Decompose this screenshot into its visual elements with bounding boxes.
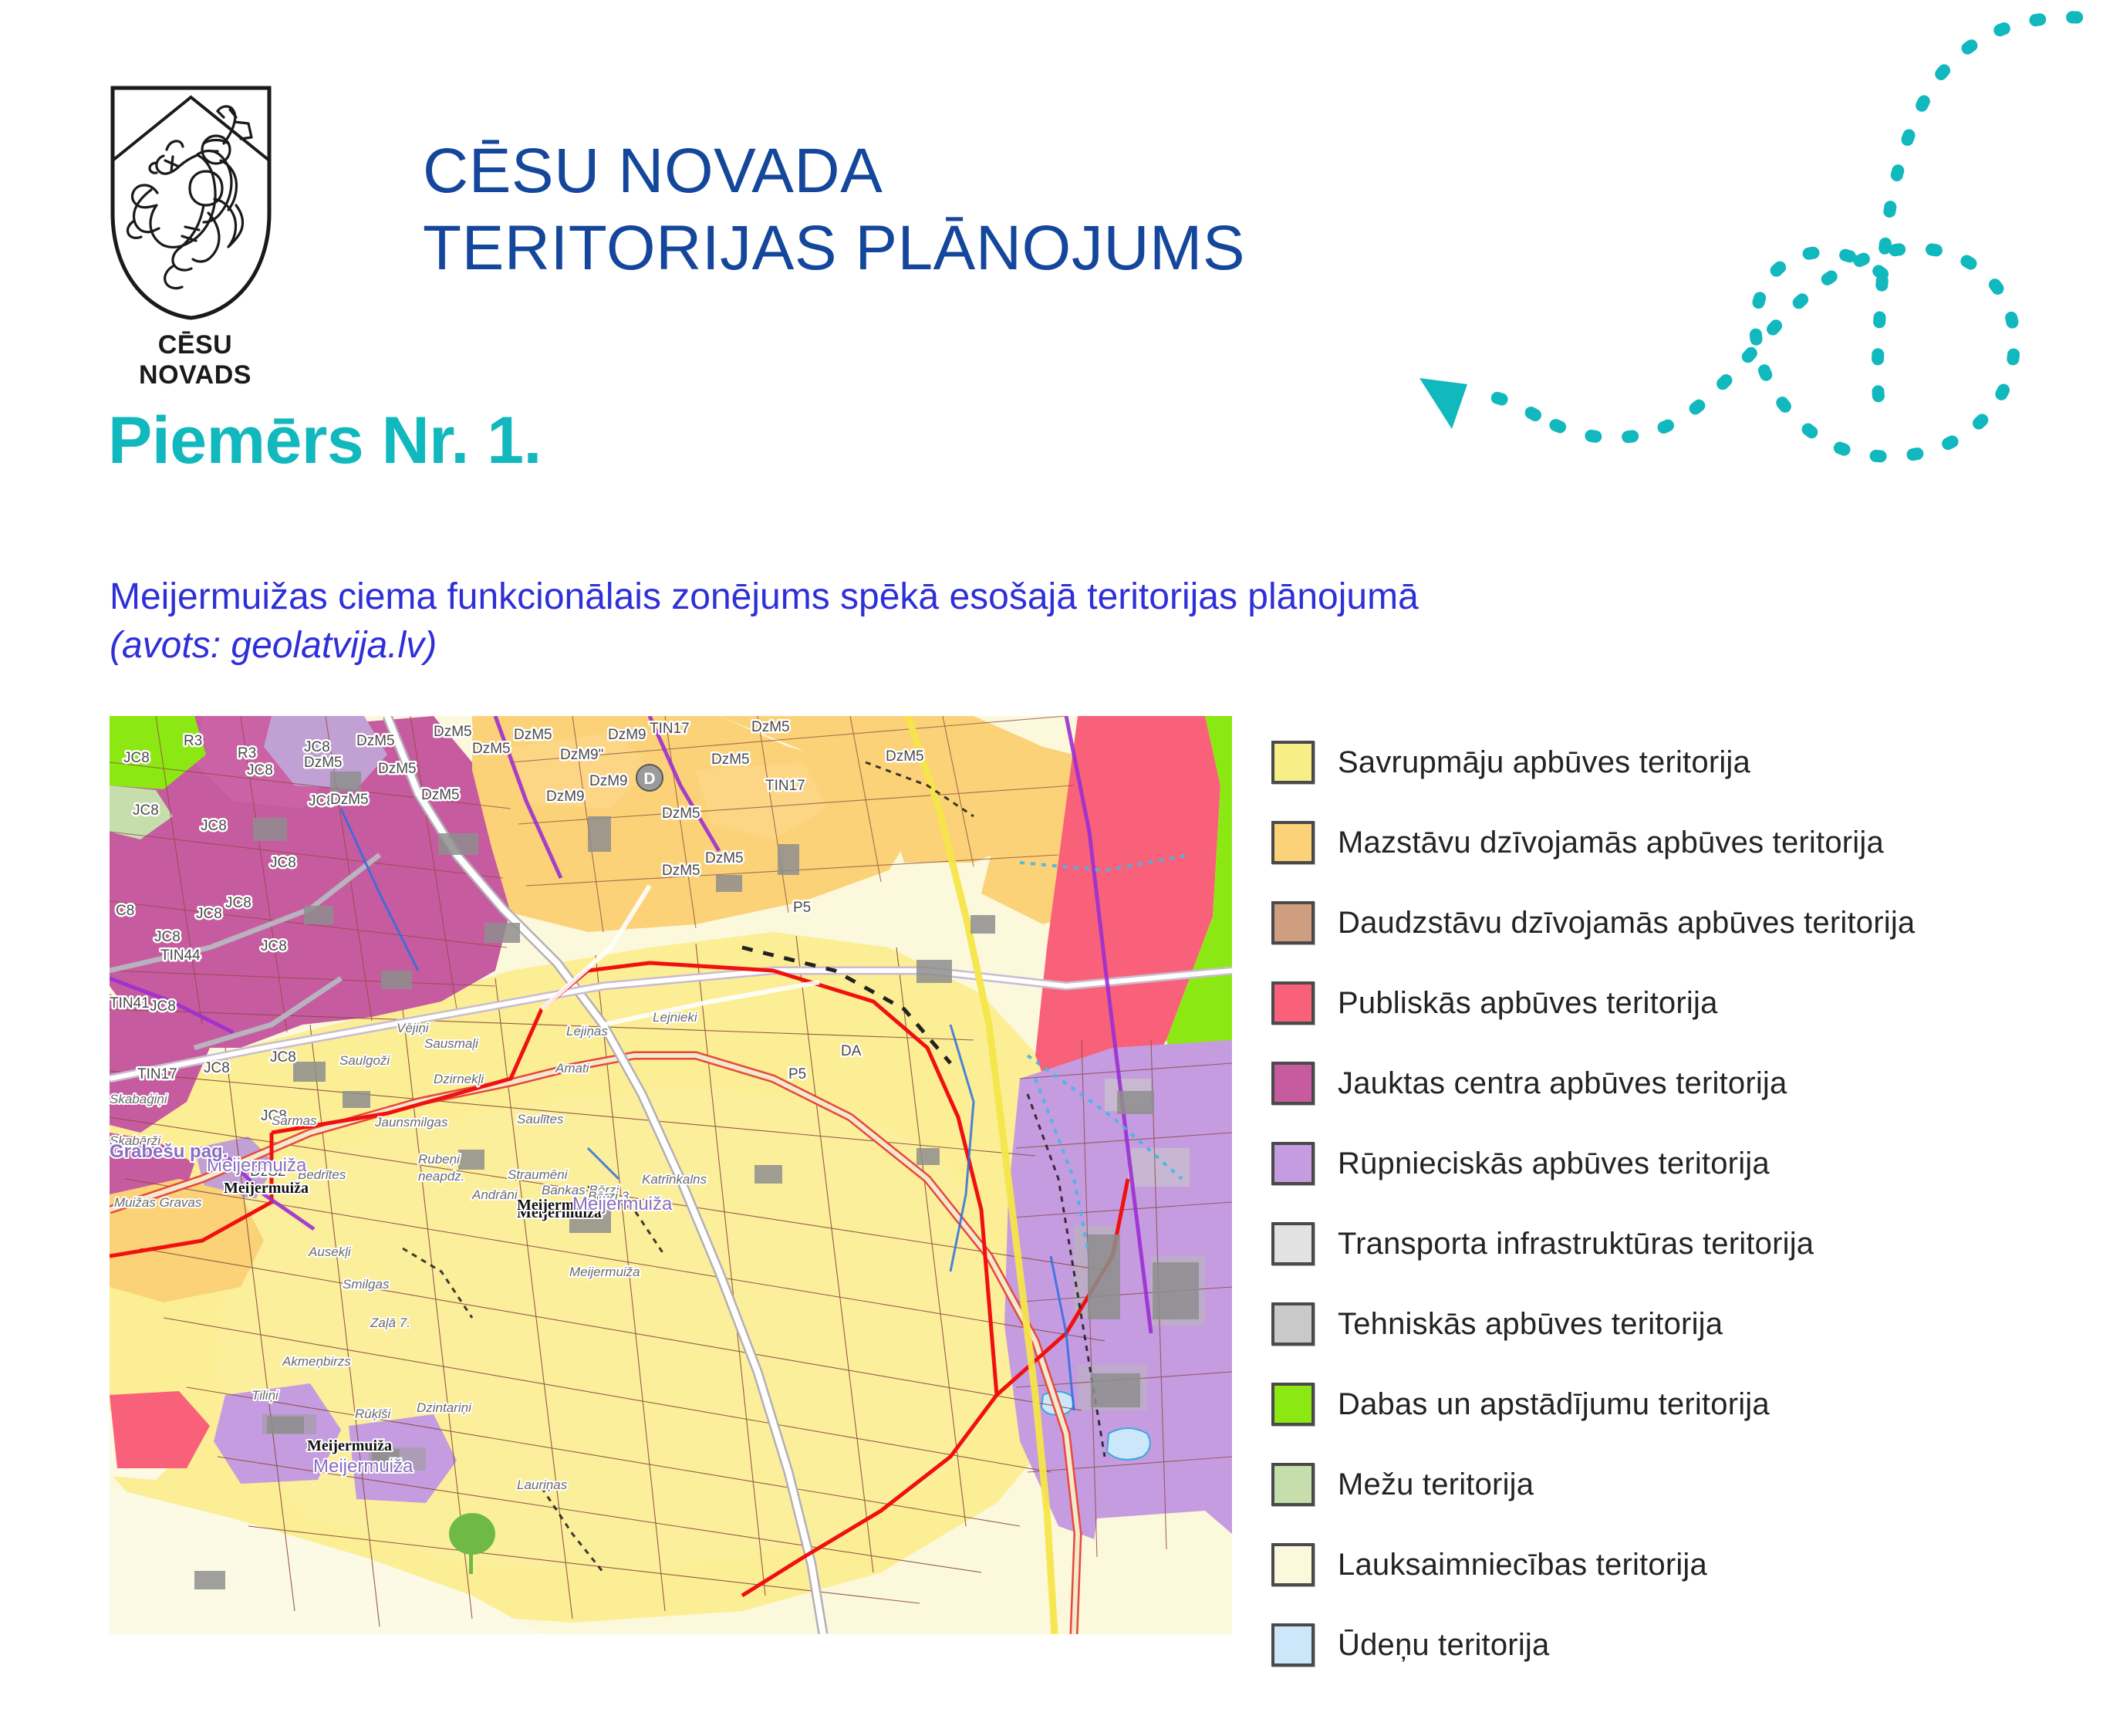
svg-text:C8: C8 <box>116 903 134 919</box>
svg-text:Sarmas: Sarmas <box>272 1113 317 1128</box>
svg-text:Ausekļi: Ausekļi <box>308 1245 352 1259</box>
svg-text:DzM5: DzM5 <box>514 727 552 743</box>
svg-text:JC8: JC8 <box>204 1060 230 1076</box>
svg-text:JC8: JC8 <box>261 938 287 954</box>
legend-item-label: Savrupmāju apbūves teritorija <box>1338 745 1750 780</box>
svg-text:DA: DA <box>841 1043 862 1059</box>
dotted-swoosh-arrow-icon <box>1419 17 2103 456</box>
svg-text:R3: R3 <box>184 733 202 749</box>
svg-text:P5: P5 <box>788 1066 806 1082</box>
legend-color-swatch <box>1271 1302 1315 1346</box>
svg-text:DzM9: DzM9 <box>546 789 585 805</box>
brand-label: CĒSU NOVADS <box>99 330 292 390</box>
legend-color-swatch <box>1271 1142 1315 1185</box>
svg-text:P5: P5 <box>793 900 811 916</box>
legend-color-swatch <box>1271 1383 1315 1426</box>
legend-item: Lauksaimniecības teritorija <box>1271 1525 2043 1605</box>
svg-text:DzM5: DzM5 <box>751 719 790 735</box>
svg-text:Lejnieki: Lejnieki <box>653 1010 698 1025</box>
svg-text:TIN41: TIN41 <box>110 995 150 1012</box>
svg-text:DzM5: DzM5 <box>711 751 750 768</box>
svg-text:Akmeņbirzs: Akmeņbirzs <box>282 1354 351 1369</box>
legend-item: Transporta infrastruktūras teritorija <box>1271 1204 2043 1284</box>
svg-text:JC8: JC8 <box>150 998 176 1015</box>
svg-text:DzM5: DzM5 <box>356 733 395 749</box>
svg-text:DzM5: DzM5 <box>662 806 700 822</box>
legend-item: Savrupmāju apbūves teritorija <box>1271 722 2043 802</box>
legend-item: Ūdeņu teritorija <box>1271 1605 2043 1685</box>
svg-text:DzM9": DzM9" <box>560 747 603 763</box>
svg-text:Dzintariņi: Dzintariņi <box>417 1400 472 1415</box>
svg-text:Dzirnekļi: Dzirnekļi <box>434 1072 484 1086</box>
svg-text:R3: R3 <box>238 745 256 762</box>
page-title: CĒSU NOVADA TERITORIJAS PLĀNOJUMS <box>423 133 1245 287</box>
svg-text:TIN17: TIN17 <box>765 778 805 794</box>
svg-text:Meijermuiža: Meijermuiža <box>572 1194 673 1214</box>
svg-text:Vējiņi: Vējiņi <box>397 1021 430 1035</box>
svg-text:JC8: JC8 <box>247 762 273 778</box>
svg-text:DzM5: DzM5 <box>886 748 924 765</box>
svg-text:D: D <box>643 770 655 788</box>
legend-color-swatch <box>1271 1623 1315 1667</box>
legend-color-swatch <box>1271 821 1315 864</box>
legend-item: Rūpnieciskās apbūves teritorija <box>1271 1123 2043 1204</box>
legend-item: Daudzstāvu dzīvojamās apbūves teritorija <box>1271 883 2043 963</box>
svg-text:Muižas Gravas: Muižas Gravas <box>114 1195 202 1210</box>
example-heading: Piemērs Nr. 1. <box>108 403 542 479</box>
svg-text:TIN17: TIN17 <box>650 721 690 737</box>
legend-item-label: Publiskās apbūves teritorija <box>1338 986 1718 1021</box>
svg-text:TIN44: TIN44 <box>160 947 201 964</box>
svg-text:DzM5: DzM5 <box>304 755 343 771</box>
caption-line-1: Meijermuižas ciema funkcionālais zonējum… <box>110 572 1961 621</box>
legend-item-label: Ūdeņu teritorija <box>1338 1628 1549 1663</box>
svg-text:Rūķīši: Rūķīši <box>355 1407 392 1421</box>
svg-text:JC8: JC8 <box>225 895 251 911</box>
legend-color-swatch <box>1271 741 1315 784</box>
svg-text:DzM5: DzM5 <box>472 741 511 757</box>
svg-text:Saulgoži: Saulgoži <box>339 1053 390 1068</box>
legend-item-label: Dabas un apstādījumu teritorija <box>1338 1387 1770 1422</box>
svg-text:Grabešu pag.: Grabešu pag. <box>110 1141 228 1162</box>
svg-text:DzM5: DzM5 <box>434 724 472 740</box>
svg-text:Meijermuiža: Meijermuiža <box>313 1456 414 1477</box>
svg-text:Andrāni: Andrāni <box>471 1187 518 1202</box>
legend-item-label: Rūpnieciskās apbūves teritorija <box>1338 1147 1770 1181</box>
svg-text:Skabaģiņi: Skabaģiņi <box>110 1092 168 1106</box>
svg-text:DzM5: DzM5 <box>330 792 369 808</box>
legend-item-label: Mazstāvu dzīvojamās apbūves teritorija <box>1338 826 1884 860</box>
legend-item: Publiskās apbūves teritorija <box>1271 963 2043 1043</box>
svg-text:Lejiņas: Lejiņas <box>566 1024 608 1039</box>
legend-item-label: Mežu teritorija <box>1338 1467 1534 1502</box>
legend-color-swatch <box>1271 981 1315 1025</box>
legend-item: Mazstāvu dzīvojamās apbūves teritorija <box>1271 802 2043 883</box>
legend-color-swatch <box>1271 1463 1315 1506</box>
svg-text:DzM5: DzM5 <box>705 850 744 866</box>
svg-text:JC8: JC8 <box>304 739 330 755</box>
svg-text:JC8: JC8 <box>133 802 159 819</box>
svg-text:Amati: Amati <box>555 1061 590 1076</box>
legend-item-label: Transporta infrastruktūras teritorija <box>1338 1227 1814 1261</box>
map-caption: Meijermuižas ciema funkcionālais zonējum… <box>110 572 1961 670</box>
svg-text:Meijermuiža: Meijermuiža <box>569 1265 640 1279</box>
caption-line-2: (avots: geolatvija.lv) <box>110 621 1961 670</box>
svg-text:Lauriņas: Lauriņas <box>517 1478 568 1492</box>
svg-text:Meijermuiža: Meijermuiža <box>224 1180 309 1197</box>
legend-item-label: Daudzstāvu dzīvojamās apbūves teritorija <box>1338 906 1915 941</box>
svg-text:DzM9: DzM9 <box>589 773 628 789</box>
legend-item-label: Lauksaimniecības teritorija <box>1338 1548 1707 1582</box>
svg-text:Smilgas: Smilgas <box>343 1277 390 1292</box>
map-marker-d: D <box>636 765 663 791</box>
legend-item: Mežu teritorija <box>1271 1444 2043 1525</box>
svg-text:DzM5: DzM5 <box>421 787 460 803</box>
svg-text:JC8: JC8 <box>154 929 181 945</box>
svg-text:Tiliņi: Tiliņi <box>251 1388 279 1403</box>
svg-text:JC8: JC8 <box>270 1049 296 1066</box>
legend-item-label: Jauktas centra apbūves teritorija <box>1338 1066 1787 1101</box>
legend-color-swatch <box>1271 901 1315 944</box>
decorative-swoosh <box>1342 0 2103 471</box>
svg-text:DzM5: DzM5 <box>662 863 700 879</box>
svg-text:Katrīnkalns: Katrīnkalns <box>642 1172 707 1187</box>
legend-item-label: Tehniskās apbūves teritorija <box>1338 1307 1723 1342</box>
legend-color-swatch <box>1271 1222 1315 1265</box>
legend-item: Dabas un apstādījumu teritorija <box>1271 1364 2043 1444</box>
svg-text:Saulītes: Saulītes <box>517 1112 564 1126</box>
svg-text:Zaļā 7.: Zaļā 7. <box>370 1316 410 1330</box>
svg-text:TIN17: TIN17 <box>137 1066 177 1082</box>
svg-text:neapdz.: neapdz. <box>418 1169 465 1184</box>
map-legend: Savrupmāju apbūves teritorija Mazstāvu d… <box>1271 722 2043 1685</box>
zoning-map-image: .lbl { font-family:"Liberation Sans",san… <box>110 716 1232 1634</box>
svg-text:Jaunsmilgas: Jaunsmilgas <box>374 1115 448 1130</box>
cesu-novads-coat-of-arms-icon <box>108 83 274 323</box>
svg-text:DzM5: DzM5 <box>378 761 417 777</box>
legend-color-swatch <box>1271 1543 1315 1586</box>
legend-item: Jauktas centra apbūves teritorija <box>1271 1043 2043 1123</box>
svg-text:Straumēni: Straumēni <box>508 1167 569 1182</box>
svg-text:JC8: JC8 <box>196 906 222 922</box>
page-header: CĒSU NOVADS CĒSU NOVADA TERITORIJAS PLĀN… <box>0 0 1311 363</box>
legend-color-swatch <box>1271 1062 1315 1105</box>
svg-text:DzM9: DzM9 <box>608 727 646 743</box>
svg-text:JC8: JC8 <box>201 818 227 834</box>
svg-text:Sausmaļi: Sausmaļi <box>424 1036 479 1051</box>
svg-text:Rubeņi: Rubeņi <box>418 1152 461 1167</box>
legend-item: Tehniskās apbūves teritorija <box>1271 1284 2043 1364</box>
svg-text:Meijermuiža: Meijermuiža <box>307 1437 392 1454</box>
svg-text:JC8: JC8 <box>123 750 150 766</box>
svg-text:JC8: JC8 <box>270 855 296 871</box>
